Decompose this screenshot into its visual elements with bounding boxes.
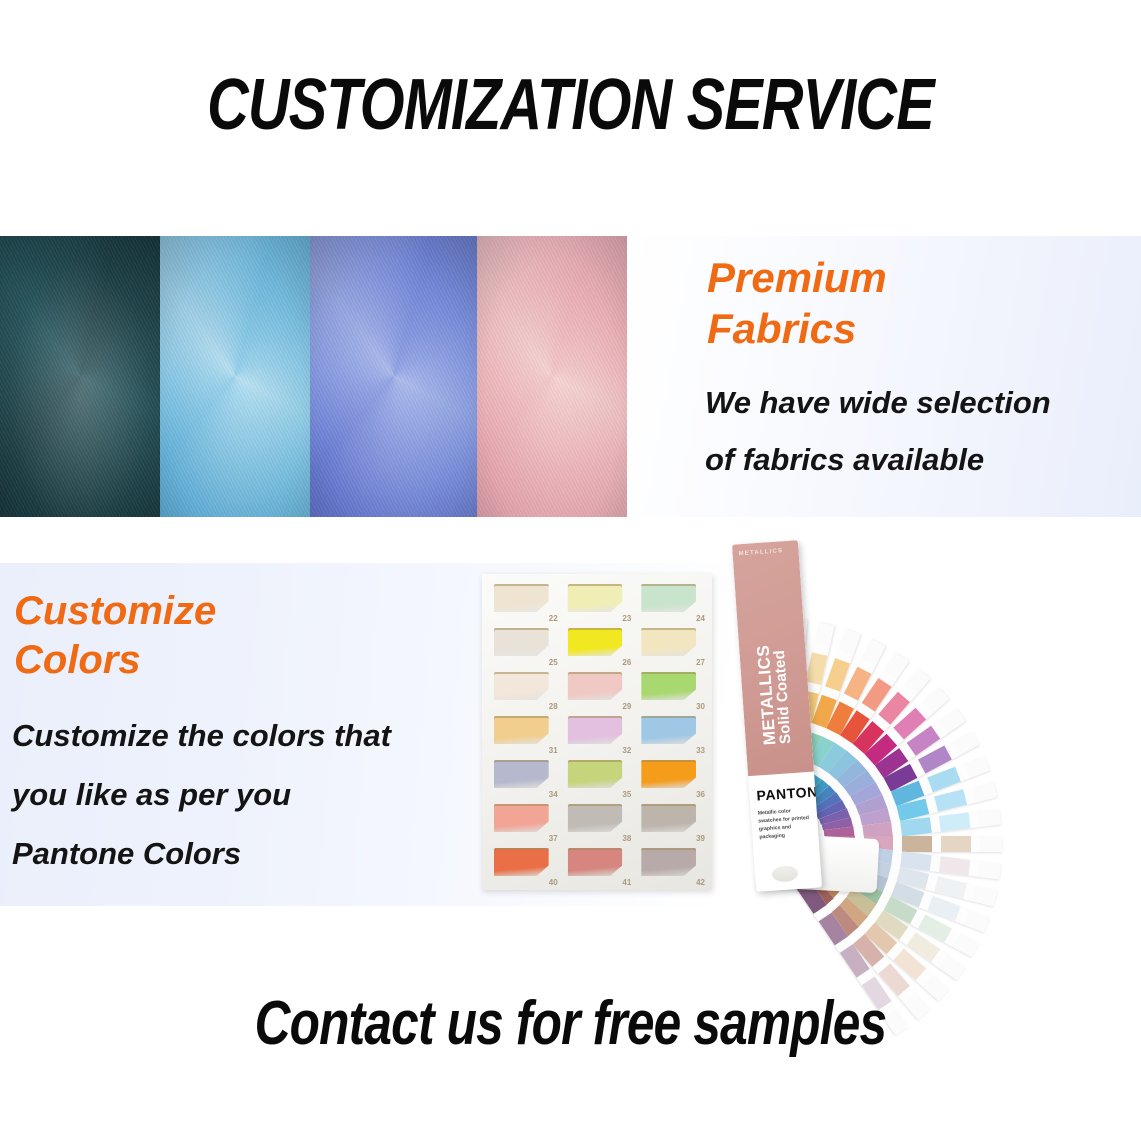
fan-blade-color-segment — [939, 856, 971, 876]
color-chip — [568, 672, 623, 700]
color-chip-number: 41 — [622, 878, 631, 887]
swatch-cell: 33 — [639, 714, 706, 755]
premium-fabrics-section: Premium Fabrics We have wide selection o… — [0, 236, 1141, 517]
premium-fabrics-description: We have wide selection of fabrics availa… — [705, 374, 1141, 489]
footer-call-to-action: Contact us for free samples — [114, 988, 1027, 1059]
fan-blade-color-segment — [941, 836, 971, 852]
swatch-cell: 34 — [492, 758, 559, 799]
pantone-metallics-fan-deck: METALLICS METALLICS Solid Coated PANTONE… — [722, 536, 1141, 916]
fabric-image-blush-pink-satin — [477, 236, 627, 517]
color-chip — [641, 628, 696, 656]
fan-deck-cover-tag: METALLICS — [738, 548, 783, 557]
fan-blade-color-segment — [934, 789, 967, 812]
color-chip-number: 23 — [622, 614, 631, 623]
color-chip-number: 30 — [696, 702, 705, 711]
color-chip — [494, 584, 549, 612]
color-chip — [568, 628, 623, 656]
color-chip — [568, 584, 623, 612]
swatch-cell: 32 — [566, 714, 633, 755]
premium-fabrics-heading: Premium Fabrics — [707, 252, 887, 354]
fan-deck-cover-top: METALLICS METALLICS Solid Coated — [732, 540, 814, 776]
pantone-brand-logo: PANTONE® — [756, 782, 822, 803]
swatch-cell: 38 — [566, 802, 633, 843]
color-chip-number: 26 — [622, 658, 631, 667]
swatch-cell: 29 — [566, 670, 633, 711]
swatch-cell: 39 — [639, 802, 706, 843]
color-chip — [568, 760, 623, 788]
pantone-paper-swatch-card: 2223242526272829303132333435363738394041… — [482, 574, 712, 890]
fan-deck-cover: METALLICS METALLICS Solid Coated PANTONE… — [732, 540, 822, 892]
color-chip-number: 38 — [622, 834, 631, 843]
color-chip-number: 22 — [549, 614, 558, 623]
swatch-cell: 31 — [492, 714, 559, 755]
fabric-image-light-blue-jersey — [160, 236, 310, 517]
color-chip-number: 31 — [549, 746, 558, 755]
color-chip-number: 24 — [696, 614, 705, 623]
color-chip-number: 25 — [549, 658, 558, 667]
color-chip — [494, 848, 549, 876]
color-chip — [641, 760, 696, 788]
swatch-cell: 24 — [639, 582, 706, 623]
swatch-chip-grid: 2223242526272829303132333435363738394041… — [492, 582, 706, 884]
color-chip-number: 33 — [696, 746, 705, 755]
customize-colors-heading: Customize Colors — [14, 587, 216, 685]
color-chip-number: 27 — [696, 658, 705, 667]
color-chip-number: 42 — [696, 878, 705, 887]
color-chip — [494, 628, 549, 656]
color-chip-number: 32 — [622, 746, 631, 755]
swatch-cell: 35 — [566, 758, 633, 799]
fan-blade-color-segment — [805, 652, 827, 685]
customize-heading-line-2: Colors — [14, 636, 216, 685]
page-title: CUSTOMIZATION SERVICE — [114, 64, 1027, 146]
color-chip — [568, 716, 623, 744]
fabric-swatch-strip — [0, 236, 627, 517]
customize-heading-line-1: Customize — [14, 587, 216, 636]
fan-deck-cover-subtext: Metallic color swatches for printed grap… — [757, 806, 811, 842]
color-chip-number: 40 — [549, 878, 558, 887]
customize-body-line-1: Customize the colors that — [12, 707, 482, 766]
swatch-cell: 25 — [492, 626, 559, 667]
swatch-cell: 36 — [639, 758, 706, 799]
fabric-image-dark-teal-ribbed-knit — [0, 236, 160, 517]
fan-blade-color-segment — [900, 817, 932, 837]
swatch-cell: 40 — [492, 846, 559, 887]
premium-heading-line-2: Fabrics — [707, 303, 887, 354]
color-chip — [641, 584, 696, 612]
customize-colors-description: Customize the colors that you like as pe… — [12, 707, 482, 884]
color-chip — [568, 804, 623, 832]
premium-fabrics-text-panel: Premium Fabrics We have wide selection o… — [627, 236, 1141, 517]
fan-deck-cover-title: METALLICS Solid Coated — [749, 564, 795, 746]
color-chip-number: 34 — [549, 790, 558, 799]
swatch-cell: 27 — [639, 626, 706, 667]
swatch-cell: 22 — [492, 582, 559, 623]
premium-heading-line-1: Premium — [707, 252, 887, 303]
color-chip — [641, 716, 696, 744]
fabric-image-periwinkle-blue-knit — [310, 236, 477, 517]
color-chip — [641, 848, 696, 876]
color-chip — [568, 848, 623, 876]
customize-body-line-3: Pantone Colors — [12, 825, 482, 884]
color-chip — [494, 672, 549, 700]
fan-blade-color-segment — [902, 836, 932, 852]
color-chip-number: 37 — [549, 834, 558, 843]
color-chip — [494, 804, 549, 832]
premium-body-line-2: of fabrics available — [705, 431, 1141, 488]
color-chip-number: 36 — [696, 790, 705, 799]
color-chip-number: 29 — [622, 702, 631, 711]
swatch-cell: 23 — [566, 582, 633, 623]
customize-body-line-2: you like as per you — [12, 766, 482, 825]
premium-body-line-1: We have wide selection — [705, 374, 1141, 431]
color-chip — [641, 804, 696, 832]
swatch-cell: 28 — [492, 670, 559, 711]
fan-deck-thumb-notch-icon — [772, 865, 799, 883]
color-chip-number: 35 — [622, 790, 631, 799]
color-chip — [641, 672, 696, 700]
swatch-cell: 37 — [492, 802, 559, 843]
swatch-cell: 26 — [566, 626, 633, 667]
promo-banner: CUSTOMIZATION SERVICE Premium Fabrics We… — [0, 0, 1141, 1142]
swatch-cell: 30 — [639, 670, 706, 711]
pantone-brand-text: PANTONE — [756, 783, 822, 804]
color-chip — [494, 760, 549, 788]
fan-blade-color-segment — [939, 812, 971, 832]
swatch-cell: 42 — [639, 846, 706, 887]
color-chip-number: 28 — [549, 702, 558, 711]
swatch-cell: 41 — [566, 846, 633, 887]
fan-blade-color-segment — [934, 876, 967, 899]
color-chip — [494, 716, 549, 744]
color-chip-number: 39 — [696, 834, 705, 843]
